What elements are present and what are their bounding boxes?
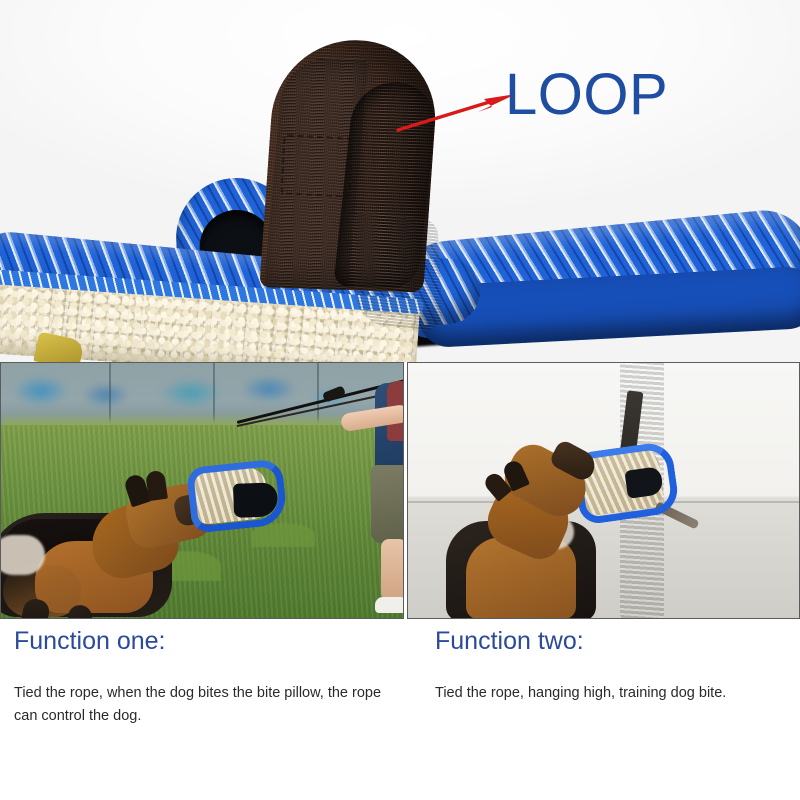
caption-body: Tied the rope, when the dog bites the bi… xyxy=(14,682,394,729)
function-two-photo xyxy=(407,362,800,619)
callout-arrow-icon xyxy=(392,88,522,138)
caption-function-one: Function one: Tied the rope, when the do… xyxy=(14,628,394,728)
handler-leg xyxy=(381,539,404,601)
caption-function-two: Function two: Tied the rope, hanging hig… xyxy=(435,628,790,705)
brown-nylon-loop xyxy=(268,40,438,300)
loop-detail-photo: LOOP xyxy=(0,0,800,362)
handler-shorts xyxy=(371,465,404,543)
german-shepherd-dog xyxy=(407,459,652,619)
caption-body: Tied the rope, hanging high, training do… xyxy=(435,682,790,705)
infographic-page: LOOP xyxy=(0,0,800,800)
loop-stitching xyxy=(280,134,353,198)
bite-pillow xyxy=(186,458,288,534)
handler xyxy=(331,362,404,619)
handler-shoe xyxy=(375,597,404,613)
bite-pillow-blue-trim xyxy=(186,458,288,534)
dog-chest xyxy=(0,535,45,575)
caption-title: Function two: xyxy=(435,628,790,656)
caption-title: Function one: xyxy=(14,628,394,656)
function-one-photo xyxy=(0,362,404,619)
loop-tail-strap xyxy=(351,212,443,333)
loop-label: LOOP xyxy=(505,66,668,124)
